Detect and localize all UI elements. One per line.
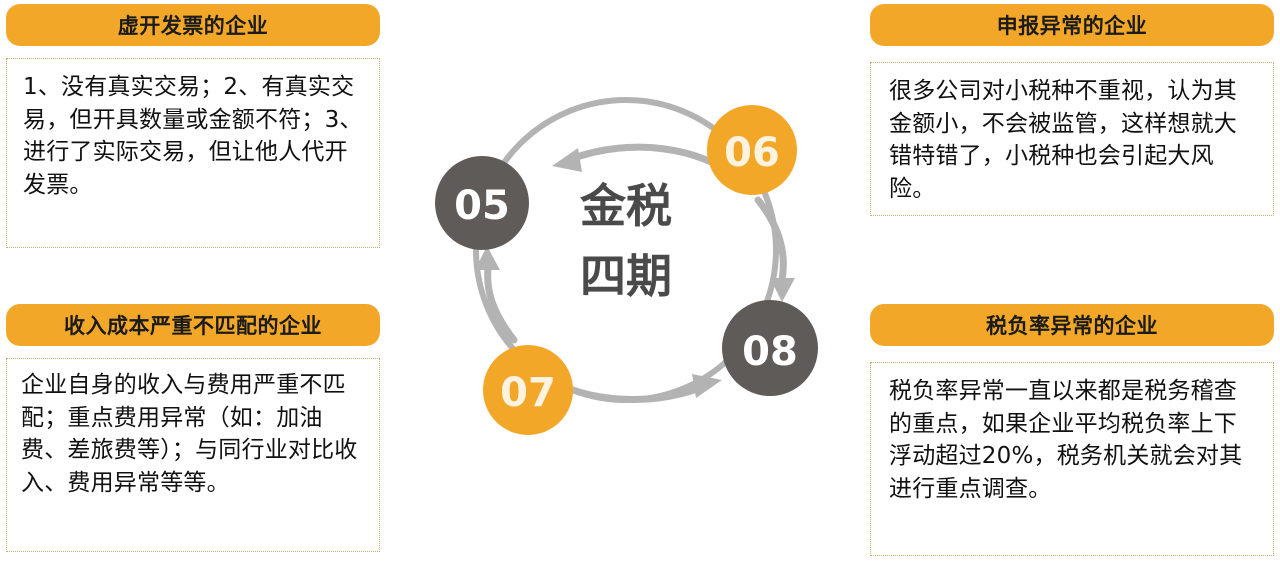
panel-fake-invoice: 虚开发票的企业 1、没有真实交易；2、有真实交易，但开具数量或金额不符；3、进行…	[6, 4, 380, 248]
panel-filing-anomaly-body: 很多公司对小税种不重视，认为其金额小，不会被监管，这样想就大错特错了，小税种也会…	[870, 62, 1274, 216]
panel-tax-burden-header: 税负率异常的企业	[870, 304, 1274, 346]
panel-tax-burden-title: 税负率异常的企业	[986, 310, 1158, 340]
panel-filing-anomaly: 申报异常的企业 很多公司对小税种不重视，认为其金额小，不会被监管，这样想就大错特…	[870, 4, 1274, 216]
panel-fake-invoice-text: 1、没有真实交易；2、有真实交易，但开具数量或金额不符；3、进行了实际交易，但让…	[23, 71, 365, 202]
center-title-line2: 四期	[580, 249, 672, 303]
panel-tax-burden: 税负率异常的企业 税负率异常一直以来都是税务稽查的重点，如果企业平均税负率上下浮…	[870, 304, 1274, 556]
node-08[interactable]: 08	[722, 300, 818, 396]
panel-filing-anomaly-text: 很多公司对小税种不重视，认为其金额小，不会被监管，这样想就大错特错了，小税种也会…	[889, 75, 1259, 206]
panel-fake-invoice-header: 虚开发票的企业	[6, 4, 380, 46]
panel-cost-mismatch: 收入成本严重不匹配的企业 企业自身的收入与费用严重不匹配；重点费用异常（如：加油…	[6, 304, 380, 552]
center-cycle-diagram: 金税 四期 05 06 07 08	[410, 40, 870, 490]
panel-tax-burden-body: 税负率异常一直以来都是税务稽查的重点，如果企业平均税负率上下浮动超过20%，税务…	[870, 362, 1274, 556]
center-title-line1: 金税	[579, 179, 672, 233]
node-05-label: 05	[454, 183, 510, 229]
node-06-label: 06	[724, 130, 780, 176]
panel-cost-mismatch-body: 企业自身的收入与费用严重不匹配；重点费用异常（如：加油费、差旅费等）；与同行业对…	[6, 358, 380, 552]
panel-filing-anomaly-title: 申报异常的企业	[997, 10, 1148, 40]
node-07[interactable]: 07	[483, 345, 573, 435]
panel-fake-invoice-title: 虚开发票的企业	[118, 10, 269, 40]
node-05[interactable]: 05	[435, 156, 529, 250]
panel-cost-mismatch-title: 收入成本严重不匹配的企业	[64, 310, 322, 340]
node-06[interactable]: 06	[707, 105, 797, 195]
node-08-label: 08	[742, 329, 798, 375]
panel-fake-invoice-body: 1、没有真实交易；2、有真实交易，但开具数量或金额不符；3、进行了实际交易，但让…	[6, 58, 380, 248]
panel-cost-mismatch-text: 企业自身的收入与费用严重不匹配；重点费用异常（如：加油费、差旅费等）；与同行业对…	[21, 369, 367, 500]
node-07-label: 07	[500, 370, 556, 416]
panel-cost-mismatch-header: 收入成本严重不匹配的企业	[6, 304, 380, 346]
panel-filing-anomaly-header: 申报异常的企业	[870, 4, 1274, 46]
panel-tax-burden-text: 税负率异常一直以来都是税务稽查的重点，如果企业平均税负率上下浮动超过20%，税务…	[889, 375, 1259, 506]
